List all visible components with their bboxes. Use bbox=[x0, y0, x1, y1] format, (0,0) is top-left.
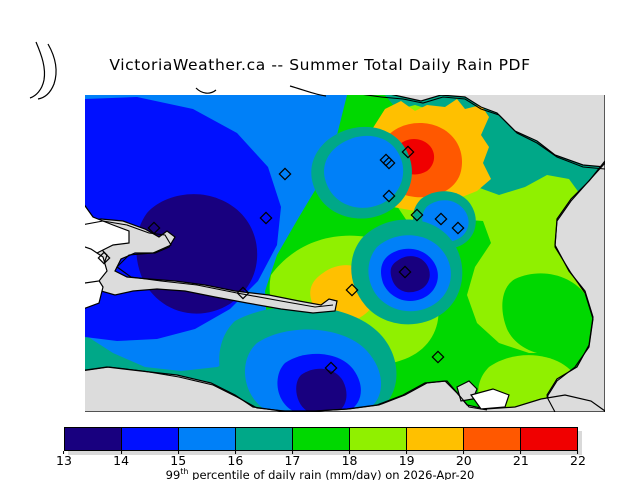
decor-coast-squiggle bbox=[196, 88, 216, 93]
weather-map-page: VictoriaWeather.ca -- Summer Total Daily… bbox=[0, 0, 640, 480]
page-title: VictoriaWeather.ca -- Summer Total Daily… bbox=[0, 56, 640, 74]
colorbar-tick-19: 19 bbox=[399, 451, 415, 467]
colorbar-band-18-19 bbox=[350, 428, 407, 450]
colorbar-tick-16: 16 bbox=[227, 451, 243, 467]
colorbar-band-21-22 bbox=[521, 428, 577, 450]
colorbar-band-20-21 bbox=[464, 428, 521, 450]
colorbar-tick-20: 20 bbox=[456, 451, 472, 467]
map-plot-area bbox=[85, 95, 605, 412]
colorbar-band-19-20 bbox=[407, 428, 464, 450]
colorbar-area: 13141516171819202122 99th percentile of … bbox=[0, 420, 640, 480]
colorbar-tick-14: 14 bbox=[113, 451, 129, 467]
colorbar-tick-18: 18 bbox=[342, 451, 358, 467]
colorbar-band-13-14 bbox=[65, 428, 122, 450]
colorbar-band-16-17 bbox=[236, 428, 293, 450]
colorbar-tick-21: 21 bbox=[513, 451, 529, 467]
contour-map-svg bbox=[85, 95, 605, 412]
colorbar-tick-15: 15 bbox=[170, 451, 186, 467]
colorbar-band-15-16 bbox=[179, 428, 236, 450]
colorbar-tick-labels: 13141516171819202122 bbox=[64, 451, 578, 467]
colorbar-band-14-15 bbox=[122, 428, 179, 450]
colorbar[interactable] bbox=[64, 427, 578, 451]
colorbar-tick-17: 17 bbox=[284, 451, 300, 467]
colorbar-band-17-18 bbox=[293, 428, 350, 450]
colorbar-tick-22: 22 bbox=[570, 451, 586, 467]
colorbar-caption: 99th percentile of daily rain (mm/day) o… bbox=[0, 467, 640, 480]
colorbar-tick-13: 13 bbox=[56, 451, 72, 467]
